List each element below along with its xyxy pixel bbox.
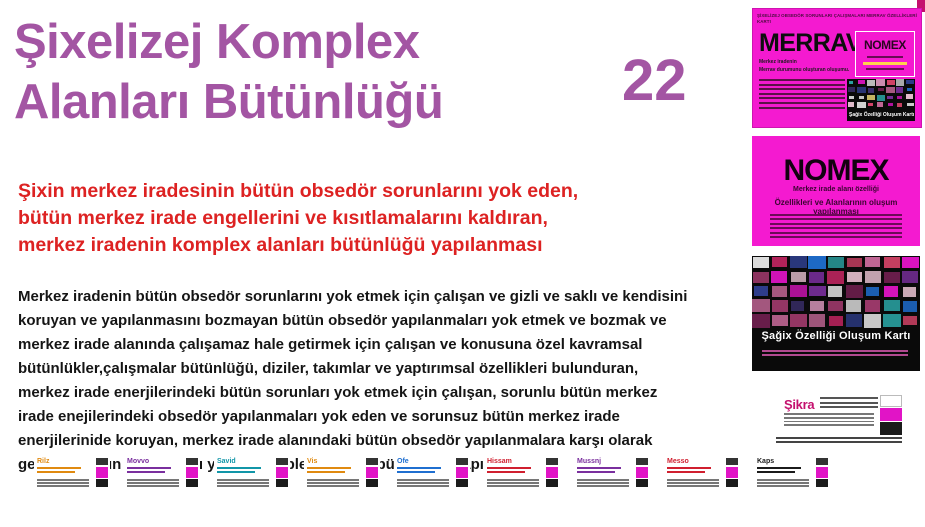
- collage-tile: [828, 286, 842, 297]
- thumb-chip-dark: [546, 458, 558, 465]
- thumb-label: Ofe: [397, 458, 409, 465]
- collage-tile: [896, 87, 902, 93]
- inset-nomex-wordmark: NOMEX: [864, 38, 906, 52]
- collage-tile: [809, 286, 826, 297]
- collage-tile: [883, 314, 901, 327]
- thumb-chip-magenta: [726, 467, 738, 478]
- sikra-side-strip: [880, 395, 902, 435]
- sikra-headline-placeholder: [820, 397, 878, 411]
- subtitle-line-1: Şixin merkez iradesinin bütün obsedör so…: [18, 178, 730, 205]
- thumb-chip-magenta: [276, 467, 288, 478]
- filmstrip-thumb[interactable]: Messo: [664, 456, 740, 490]
- collage-tile: [809, 314, 825, 327]
- collage-tile: [809, 272, 824, 283]
- collage-tile: [906, 94, 914, 99]
- collage-tile: [884, 286, 899, 297]
- collage-tile: [903, 287, 916, 297]
- collage-tile: [772, 286, 787, 297]
- thumb-label: Vis: [307, 458, 317, 465]
- collage-tile: [847, 272, 862, 282]
- inset-rule-1: [867, 56, 903, 58]
- thumb-rule-1: [127, 467, 171, 469]
- collage-tile: [864, 314, 881, 328]
- thumb-chip-magenta: [186, 467, 198, 478]
- thumb-rule-1: [217, 467, 261, 469]
- thumb-chip-black: [276, 479, 288, 487]
- thumb-chip-dark: [276, 458, 288, 465]
- collage-tile: [849, 96, 854, 100]
- collage-tile: [753, 272, 769, 283]
- collage-tile: [829, 316, 843, 326]
- collage-tile: [868, 88, 875, 93]
- image-rail: ŞİXELİZEJ OBSEDÖR SORUNLARI ÇALIŞMALARI …: [748, 0, 925, 527]
- collage-tile: [877, 102, 883, 107]
- collage-tile: [888, 103, 893, 106]
- thumb-rule-1: [487, 467, 531, 469]
- collage-tile: [867, 80, 875, 86]
- thumb-body-placeholder: [577, 479, 629, 488]
- collage-tile: [896, 79, 905, 86]
- filmstrip-thumb[interactable]: Movvo: [124, 456, 200, 490]
- rail-card-nomex[interactable]: NOMEX Merkez irade alanı özelliği Özelli…: [752, 136, 920, 246]
- thumb-body-placeholder: [127, 479, 179, 488]
- thumb-body-placeholder: [217, 479, 269, 488]
- collage-tile: [877, 95, 885, 101]
- sikra-footer-placeholder: [776, 437, 902, 445]
- collage-tile: [848, 102, 855, 107]
- collage-tile: [866, 287, 879, 297]
- body-paragraph: Merkez iradenin bütün obsedör sorunların…: [18, 285, 734, 477]
- collage-tile: [828, 301, 843, 311]
- thumb-label: Hissam: [487, 458, 512, 465]
- collage-tile: [847, 258, 862, 267]
- subtitle: Şixin merkez iradesinin bütün obsedör so…: [18, 178, 730, 259]
- thumb-label: Movvo: [127, 458, 149, 465]
- nomex-wordmark: NOMEX: [752, 154, 920, 188]
- thumb-rule-2: [577, 471, 615, 473]
- collage-tile: [903, 301, 917, 312]
- filmstrip-thumb[interactable]: Hissam: [484, 456, 560, 490]
- collage-tile: [859, 96, 864, 99]
- collage-tile: [867, 95, 875, 100]
- thumb-chip-dark: [366, 458, 378, 465]
- collage-tile: [868, 103, 872, 106]
- filmstrip-thumb[interactable]: Mussnj: [574, 456, 650, 490]
- sikra-side-chip-2: [880, 408, 902, 421]
- thumb-rule-1: [667, 467, 711, 469]
- sikra-wordmark: Şikra: [784, 397, 814, 412]
- collage-tile: [897, 96, 901, 99]
- body-line-3: merkez irade alanında çalışamaz hale get…: [18, 333, 734, 357]
- thumb-rule-1: [37, 467, 81, 469]
- body-line-1: Merkez iradenin bütün obsedör sorunların…: [18, 285, 734, 309]
- rail-card-collage[interactable]: Şağix Özelliği Oluşum Kartı: [752, 256, 920, 371]
- collage-tile: [790, 285, 807, 297]
- collage-tile: [772, 315, 788, 326]
- thumb-chip-magenta: [96, 467, 108, 478]
- thumb-chip-black: [456, 479, 468, 487]
- collage-tile: [846, 300, 861, 311]
- nomex-body-placeholder: [770, 214, 902, 240]
- collage-tile: [846, 285, 863, 298]
- merrav-banner-text: ŞİXELİZEJ OBSEDÖR SORUNLARI ÇALIŞMALARI …: [757, 13, 917, 27]
- collage-tile: [828, 257, 844, 267]
- content-column: Şixelizej Komplex Alanları Bütünlüğü 22 …: [0, 0, 745, 527]
- thumb-rule-2: [667, 471, 705, 473]
- collage-tile: [903, 316, 916, 325]
- page-number: 22: [622, 52, 687, 110]
- collage-tile: [791, 301, 804, 311]
- filmstrip-thumb[interactable]: Vis: [304, 456, 380, 490]
- merrav-wordmark: MERRAV: [759, 29, 862, 58]
- rail-card-merrav[interactable]: ŞİXELİZEJ OBSEDÖR SORUNLARI ÇALIŞMALARI …: [752, 8, 922, 128]
- collage-tile: [752, 299, 770, 312]
- nomex-subtitle-1: Merkez irade alanı özelliği: [752, 186, 920, 193]
- collage-tile: [827, 271, 844, 285]
- thumb-chip-magenta: [636, 467, 648, 478]
- collage-tile: [772, 257, 787, 267]
- sikra-side-chip-3: [880, 422, 902, 435]
- rail-card-sikra[interactable]: Şikra: [752, 385, 920, 451]
- merrav-body-placeholder: [759, 79, 845, 111]
- collage-tile: [790, 256, 807, 268]
- collage-body-placeholder: [762, 350, 908, 358]
- thumb-chip-black: [636, 479, 648, 487]
- collage-tile: [849, 81, 853, 84]
- collage-caption: Şağix Özelliği Oluşum Kartı: [752, 330, 920, 342]
- sikra-body-placeholder: [784, 413, 874, 428]
- collage-tile: [906, 80, 914, 84]
- thumb-rule-1: [307, 467, 351, 469]
- sikra-side-chip-1: [880, 395, 902, 407]
- merrav-subtitle-1: Merkez iradenin: [759, 59, 797, 65]
- collage-tile: [887, 96, 892, 99]
- collage-tile: [790, 314, 807, 327]
- collage-tile: [808, 256, 826, 269]
- collage-tile: [857, 87, 866, 94]
- collage-tile: [810, 301, 825, 311]
- collage-tile: [902, 271, 918, 283]
- thumb-label: Mussnj: [577, 458, 601, 465]
- collage-tile: [791, 272, 807, 283]
- collage-tile: [865, 300, 880, 312]
- thumb-rule-2: [217, 471, 255, 473]
- thumb-chip-magenta: [366, 467, 378, 478]
- thumb-chip-dark: [636, 458, 648, 465]
- thumb-body-placeholder: [397, 479, 449, 488]
- thumb-body-placeholder: [307, 479, 359, 488]
- collage-tile: [771, 271, 787, 283]
- thumb-body-placeholder: [487, 479, 539, 488]
- body-line-6: irade enejilerindeki obsedör yapılanmala…: [18, 405, 734, 429]
- collage-tile: [884, 300, 900, 310]
- thumb-rule-2: [307, 471, 345, 473]
- collage-tile: [884, 272, 900, 283]
- collage-tile: [865, 271, 881, 282]
- inset-rule-2: [863, 62, 907, 65]
- thumb-rule-2: [37, 471, 75, 473]
- thumb-chip-dark: [726, 458, 738, 465]
- subtitle-line-3: merkez iradenin komplex alanları bütünlü…: [18, 232, 730, 259]
- collage-tile: [752, 314, 770, 328]
- collage-tile: [907, 88, 912, 91]
- thumb-label: Rilz: [37, 458, 49, 465]
- collage-tile: [753, 257, 769, 268]
- thumbnail-filmstrip: RilzMovvoSavidVisOfeHissamMussnjMessoKap…: [34, 456, 734, 498]
- slide-canvas: Şixelizej Komplex Alanları Bütünlüğü 22 …: [0, 0, 925, 527]
- collage-tile: [878, 88, 884, 91]
- collage-tile: [754, 286, 769, 296]
- collage-tile: [902, 257, 919, 268]
- thumb-chip-dark: [186, 458, 198, 465]
- merrav-collage-inset: Şağix Özelliği Oluşum Kartı: [847, 79, 915, 121]
- thumb-rule-2: [487, 471, 525, 473]
- collage-tile: [865, 257, 879, 267]
- collage-tile: [848, 87, 855, 92]
- collage-tile: [846, 314, 862, 327]
- filmstrip-thumb[interactable]: Ofe: [394, 456, 470, 490]
- collage-tile: [772, 300, 788, 312]
- body-line-5: merkez irade enerjilerindeki bütün sorun…: [18, 381, 734, 405]
- collage-thumbnail-grid: [752, 256, 920, 328]
- body-line-2: koruyan ve yapılanmasını bozmayan bütün …: [18, 309, 734, 333]
- collage-tile: [887, 80, 895, 85]
- thumb-rule-1: [397, 467, 441, 469]
- thumb-rule-1: [577, 467, 621, 469]
- collage-tile: [858, 80, 865, 84]
- thumb-chip-black: [546, 479, 558, 487]
- subtitle-line-2: bütün merkez irade engellerini ve kısıtl…: [18, 205, 730, 232]
- merrav-subtitle-2: Merrav durumunu oluşturan oluşumu.: [759, 67, 849, 73]
- thumb-label: Savid: [217, 458, 236, 465]
- merrav-collage-caption: Şağix Özelliği Oluşum Kartı: [849, 112, 914, 118]
- thumb-chip-magenta: [456, 467, 468, 478]
- thumb-chip-magenta: [546, 467, 558, 478]
- thumb-chip-dark: [456, 458, 468, 465]
- thumb-rule-2: [127, 471, 165, 473]
- thumb-rule-2: [397, 471, 435, 473]
- thumb-body-placeholder: [37, 479, 89, 488]
- thumb-chip-black: [186, 479, 198, 487]
- collage-tile: [876, 79, 885, 86]
- filmstrip-thumb[interactable]: Rilz: [34, 456, 110, 490]
- thumb-chip-black: [366, 479, 378, 487]
- thumb-chip-dark: [96, 458, 108, 465]
- thumb-label: Messo: [667, 458, 689, 465]
- filmstrip-thumb[interactable]: Savid: [214, 456, 290, 490]
- thumb-chip-black: [96, 479, 108, 487]
- inset-rule-3: [866, 68, 904, 70]
- collage-tile: [886, 87, 895, 94]
- merrav-nomex-inset: NOMEX: [855, 31, 915, 77]
- body-line-4: bütünlükler,çalışmalar bütünlüğü, dizile…: [18, 357, 734, 381]
- thumb-chip-black: [726, 479, 738, 487]
- thumb-body-placeholder: [667, 479, 719, 488]
- body-line-7: enerjilerinide koruyan, merkez irade ala…: [18, 429, 734, 453]
- collage-tile: [897, 103, 902, 107]
- collage-tile: [857, 102, 866, 109]
- collage-tile: [907, 103, 914, 106]
- collage-tile: [884, 257, 900, 268]
